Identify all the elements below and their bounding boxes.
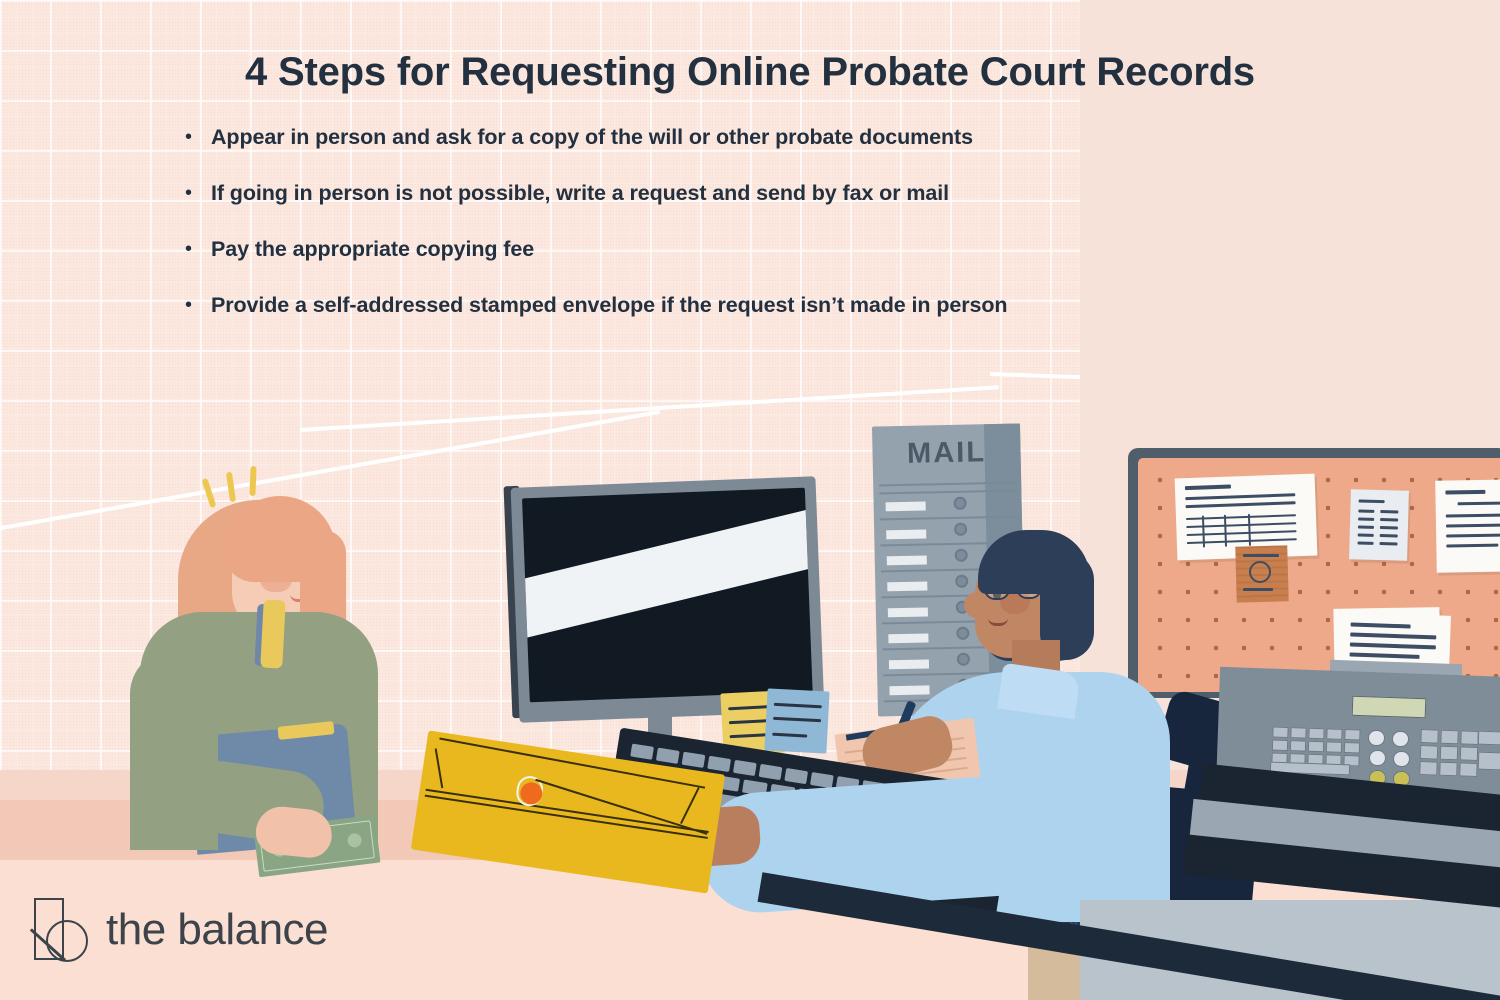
infographic-canvas: MAIL [0,0,1500,1000]
fax-round-button-1 [1368,730,1385,746]
fax-round-button-3 [1369,750,1386,766]
logo-wordmark: the balance [106,905,328,955]
customer-collar-trim [260,599,286,668]
bullet-marker-icon: • [185,237,211,261]
list-item: • Appear in person and ask for a copy of… [185,125,1500,149]
accent-diagonal-line-mid [300,385,999,432]
list-item: • If going in person is not possible, wr… [185,181,1500,205]
wood-sign-line-2 [1243,588,1273,591]
balance-logo-icon [32,898,90,962]
corkboard-paper-3 [1435,479,1500,572]
envelope-string [535,779,707,835]
bullet-text: Provide a self-addressed stamped envelop… [211,293,1007,317]
bullet-text: If going in person is not possible, writ… [211,181,949,205]
fax-keypad-right [1419,729,1479,777]
bullet-marker-icon: • [185,125,211,149]
fax-lcd-display [1352,696,1427,719]
sticky-note-blue [764,688,829,753]
bullet-list: • Appear in person and ask for a copy of… [0,125,1500,317]
fax-round-button-2 [1392,731,1409,747]
fax-side-button-2 [1478,752,1500,771]
brand-logo: the balance [32,898,328,962]
fax-keypad-left [1271,726,1360,766]
corkboard-paper-2 [1349,489,1409,560]
wood-sign-line-1 [1243,554,1279,557]
bullet-marker-icon: • [185,181,211,205]
bullet-text: Appear in person and ask for a copy of t… [211,125,973,149]
list-item: • Provide a self-addressed stamped envel… [185,293,1500,317]
page-title: 4 Steps for Requesting Online Probate Co… [0,50,1500,95]
mail-cabinet-label: MAIL [872,435,1021,471]
spark-line-3 [249,466,256,496]
monitor-screen-glare [522,494,813,645]
header-block: 4 Steps for Requesting Online Probate Co… [0,0,1500,349]
bullet-marker-icon: • [185,293,211,317]
fax-side-button-1 [1478,731,1500,746]
list-item: • Pay the appropriate copying fee [185,237,1500,261]
fax-round-button-4 [1393,751,1410,767]
logo-circle [46,920,88,962]
bullet-text: Pay the appropriate copying fee [211,237,534,261]
globe-icon [1249,561,1271,583]
monitor-screen [522,488,813,703]
monitor [511,476,825,723]
clerk-nose [964,592,988,618]
